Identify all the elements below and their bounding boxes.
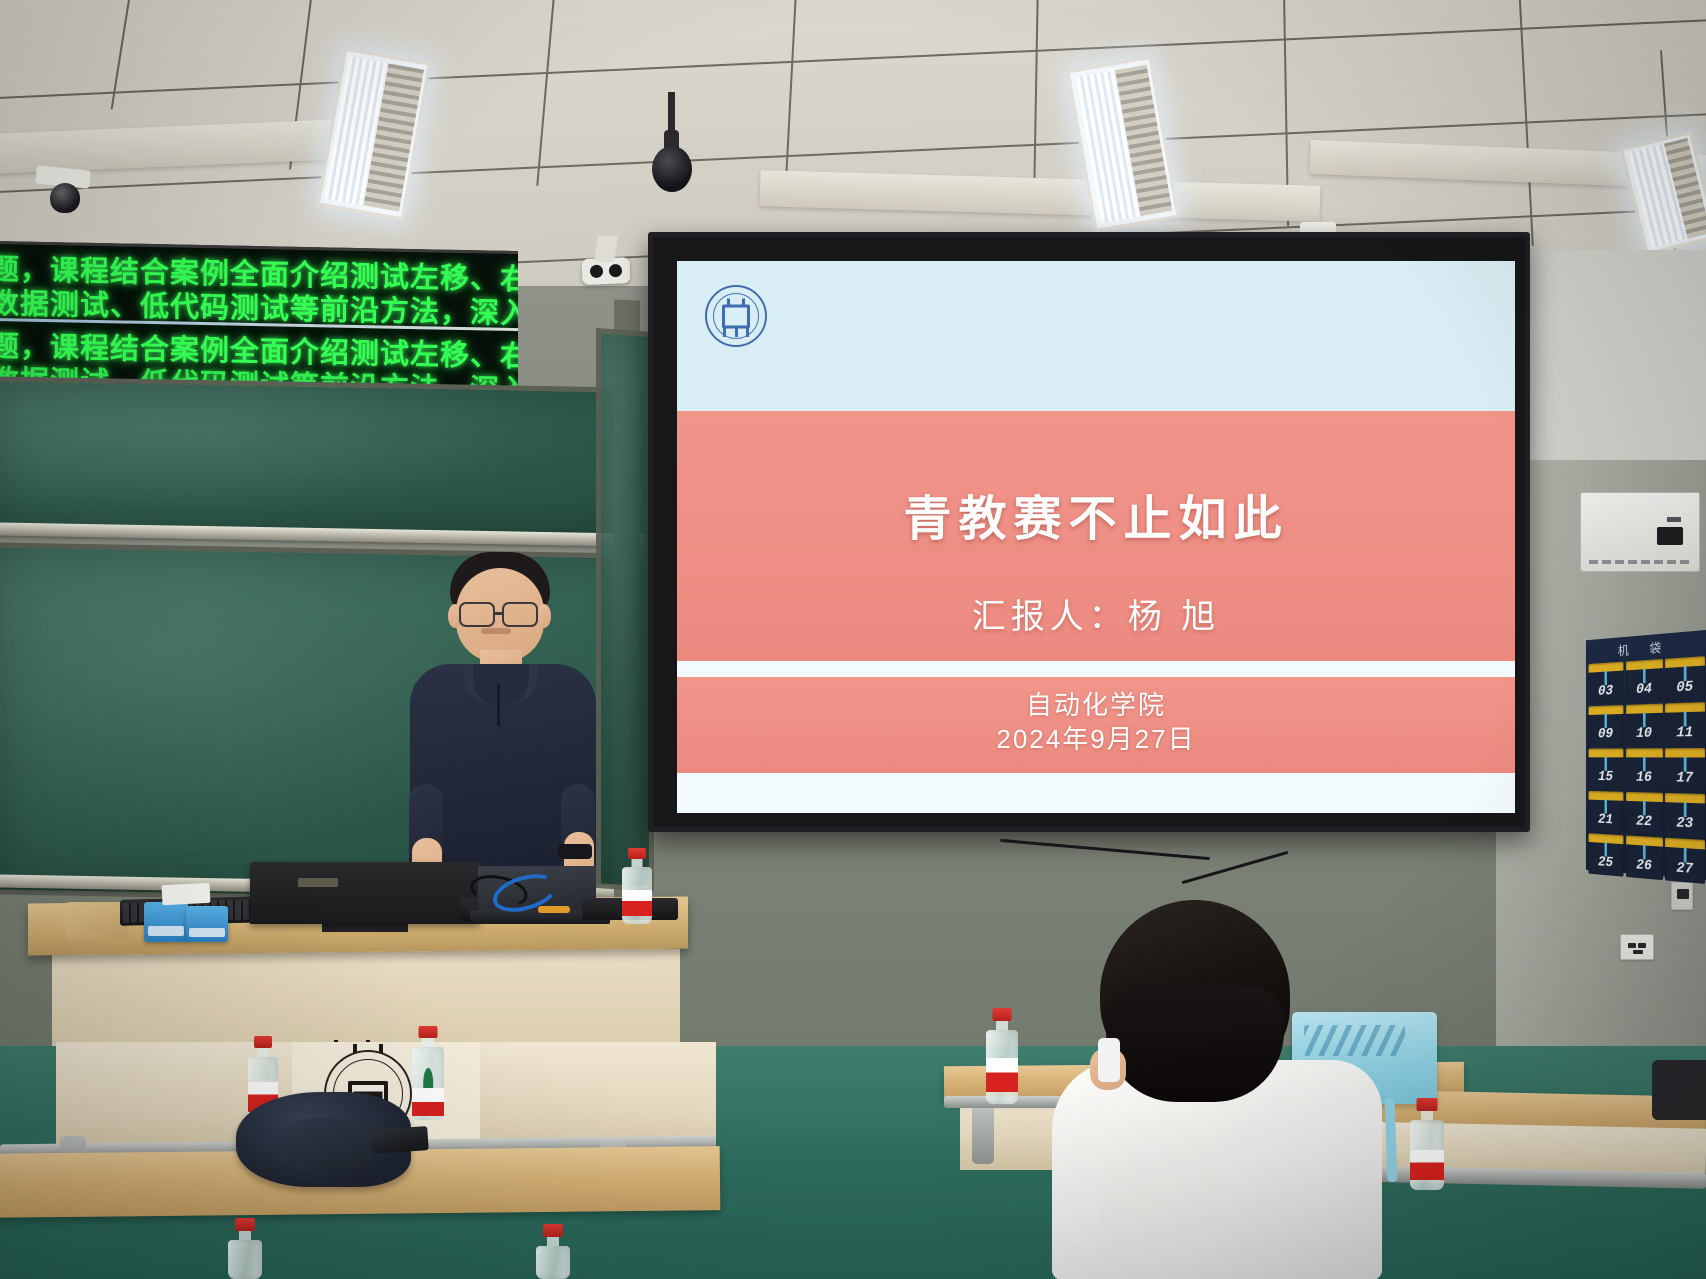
classroom-scene: 题，课程结合案例全面介绍测试左移、右移策略及成 数据测试、低代码测试等前沿方法，… [0, 0, 1706, 1279]
presenter-collar [464, 664, 538, 704]
pocket-slot[interactable]: 27 [1665, 838, 1704, 884]
student-hair-lower [1106, 986, 1284, 1102]
pocket-slot[interactable]: 11 [1665, 702, 1704, 746]
water-bottle-3 [228, 1218, 262, 1279]
chair-back [1652, 1060, 1706, 1120]
pocket-slot[interactable]: 09 [1588, 705, 1623, 747]
pocket-slot[interactable]: 23 [1665, 793, 1704, 838]
presenter-person [398, 552, 613, 882]
presenter-mouth [481, 628, 511, 634]
pocket-slot[interactable]: 15 [1588, 748, 1623, 790]
slide-date: 2024年9月27日 [677, 719, 1515, 756]
pocket-slot[interactable]: 21 [1588, 791, 1623, 833]
paper-bag [66, 902, 128, 940]
orange-connector [538, 906, 570, 913]
blackboard-upper [0, 376, 646, 540]
wall-switch-plate[interactable] [1671, 882, 1693, 910]
ceiling-dome-camera [36, 168, 94, 218]
monitor-label [298, 878, 338, 887]
fluorescent-light-fixture [317, 48, 431, 221]
presenter-ear-right [537, 604, 551, 628]
seated-student [1040, 900, 1440, 1279]
right-desk-leg [972, 1104, 994, 1164]
blue-box-2 [186, 906, 228, 942]
slide-band-bottom [677, 773, 1515, 813]
monitor-rear[interactable] [250, 862, 480, 924]
slide-department: 自动化学院 [677, 685, 1515, 722]
pocket-slot[interactable]: 10 [1626, 704, 1663, 747]
student-phone[interactable] [1098, 1038, 1120, 1082]
wristwatch [558, 844, 592, 859]
pocket-slot[interactable]: 16 [1626, 748, 1663, 791]
white-paper-stack [162, 883, 211, 905]
phone-on-desk[interactable] [371, 1126, 429, 1154]
pocket-slot[interactable]: 04 [1626, 659, 1663, 703]
wall-control-panel[interactable] [1580, 492, 1700, 572]
pocket-slot[interactable]: 17 [1665, 748, 1704, 792]
presentation-slide: 青教赛不止如此 汇报人：杨 旭 自动化学院 2024年9月27日 [677, 261, 1515, 813]
pocket-slot[interactable]: 26 [1626, 835, 1663, 880]
blue-box-1 [144, 902, 188, 942]
slide-band-top [677, 261, 1515, 411]
slide-divider [677, 661, 1515, 677]
pocket-slot[interactable]: 25 [1588, 833, 1623, 877]
glasses-bridge [495, 612, 502, 615]
university-seal-icon [705, 285, 767, 347]
phone-pocket-organizer: 机 袋 03 04 05 09 10 11 15 16 17 21 22 23 … [1586, 630, 1706, 880]
water-bottle-4 [536, 1224, 570, 1279]
wall-socket-plate[interactable] [1620, 934, 1654, 960]
ceiling-beam [760, 170, 1321, 222]
slide-presenter: 汇报人：杨 旭 [677, 589, 1515, 638]
jacket-fold [278, 1118, 374, 1172]
ceiling-hanging-camera [644, 92, 700, 200]
water-bottle-2 [412, 1026, 444, 1120]
pocket-slot[interactable]: 03 [1588, 662, 1623, 705]
glasses-lens-right [502, 602, 538, 627]
glasses-lens-left [459, 602, 495, 627]
projection-screen: 青教赛不止如此 汇报人：杨 旭 自动化学院 2024年9月27日 [648, 232, 1530, 832]
presenter-placket [497, 684, 500, 726]
pocket-slot[interactable]: 05 [1665, 656, 1704, 701]
water-bottle-5 [986, 1008, 1018, 1104]
fluorescent-light-fixture [1620, 131, 1706, 256]
slide-title: 青教赛不止如此 [677, 479, 1515, 549]
wall-camera-bracket [594, 236, 618, 262]
water-bottle-podium [622, 848, 652, 924]
led-scrolling-banner: 题，课程结合案例全面介绍测试左移、右移策略及成 数据测试、低代码测试等前沿方法，… [0, 241, 518, 395]
student-arm [1100, 1095, 1220, 1265]
pocket-slot[interactable]: 22 [1626, 792, 1663, 836]
